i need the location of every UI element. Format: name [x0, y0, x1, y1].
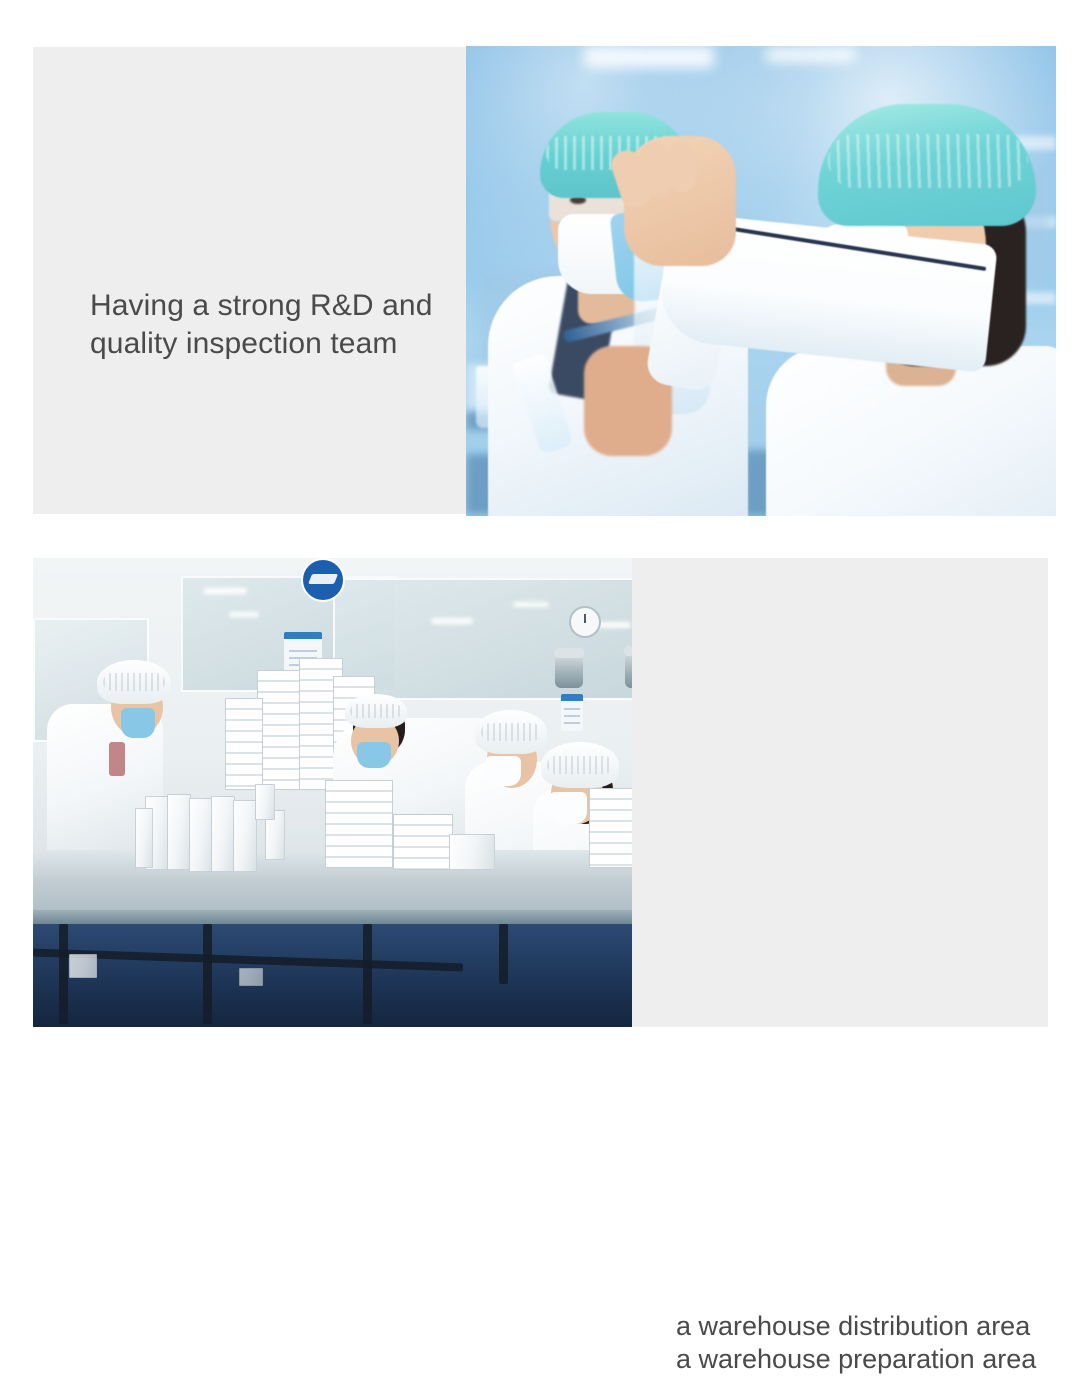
ceiling-light	[513, 602, 549, 607]
worker-3-face-mask	[485, 756, 521, 786]
floor-item	[239, 968, 263, 986]
worker-2-hairnet	[345, 694, 407, 728]
table-leg	[499, 924, 508, 984]
steel-pot	[555, 656, 583, 688]
slide-canvas: Having a strong R&D and quality inspecti…	[0, 0, 1080, 1080]
ceiling-light	[584, 46, 714, 68]
worker-1-hairnet	[97, 660, 171, 704]
top-text-panel: Having a strong R&D and quality inspecti…	[33, 47, 473, 514]
worker-3-hairnet	[475, 710, 547, 754]
cleanroom-window	[333, 578, 632, 700]
product-box	[189, 798, 213, 872]
box-stack	[257, 670, 303, 790]
worker-4-hairnet	[541, 742, 619, 788]
wall-clock	[569, 606, 601, 638]
box-stack	[589, 788, 632, 868]
table-leg	[203, 924, 212, 1024]
product-box	[449, 834, 495, 870]
box-stack	[325, 780, 393, 868]
blue-circular-sign	[301, 558, 345, 602]
ceiling-light	[229, 612, 259, 617]
product-box	[135, 808, 153, 868]
product-bottle	[255, 784, 275, 820]
top-caption-text: Having a strong R&D and quality inspecti…	[90, 287, 490, 363]
ceiling-light	[431, 618, 473, 624]
table-edge	[33, 910, 632, 924]
warehouse-packing-photo	[33, 558, 632, 1027]
table-leg	[363, 924, 372, 1024]
wall-poster	[561, 694, 583, 731]
box-stack	[225, 698, 263, 790]
worker-1-blue-mask	[121, 708, 155, 738]
floor-item	[69, 954, 97, 978]
product-box	[211, 796, 235, 872]
box-stack	[393, 814, 453, 870]
bottom-caption-text: a warehouse distribution area a warehous…	[676, 1310, 1080, 1376]
blue-floor	[33, 924, 632, 1027]
worker-2-blue-mask	[357, 742, 391, 768]
product-box	[233, 800, 257, 872]
lab-inspection-photo	[466, 46, 1056, 516]
ceiling-light	[203, 588, 247, 594]
ceiling-light	[766, 48, 856, 62]
table-leg	[59, 924, 68, 1024]
product-box	[167, 794, 191, 870]
technician-right-hairnet	[818, 104, 1036, 226]
red-accent	[109, 742, 125, 776]
worker-4-face-mask	[549, 792, 587, 824]
finger	[667, 142, 697, 193]
steel-pot	[625, 654, 632, 688]
